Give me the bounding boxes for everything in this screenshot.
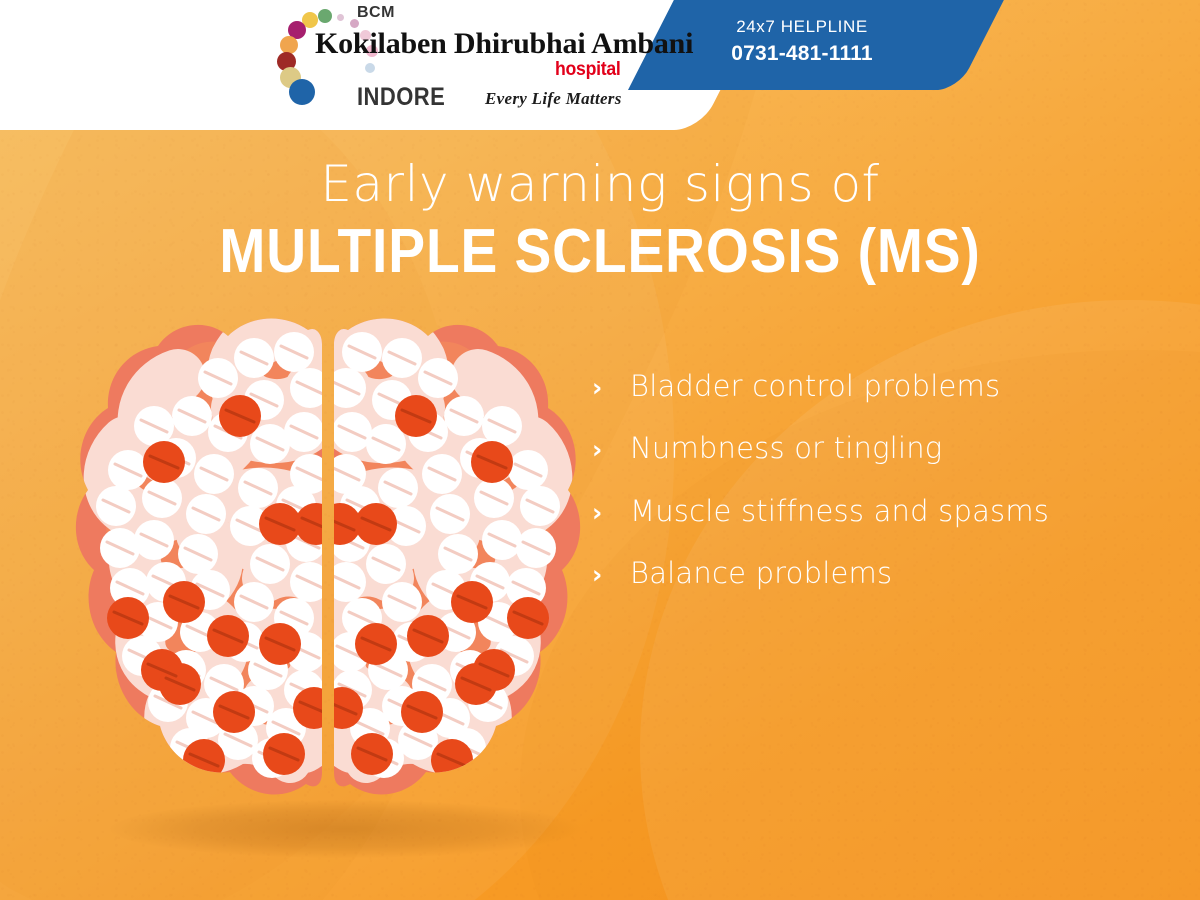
list-item: › Numbness or tingling [592,430,1152,466]
logo-dot [337,14,344,21]
chevron-right-icon: › [592,375,630,400]
title-block: Early warning signs of MULTIPLE SCLEROSI… [0,158,1200,286]
symptom-list: › Bladder control problems › Numbness or… [592,368,1152,617]
logo-dot [318,9,332,23]
list-item: › Balance problems [592,555,1152,591]
logo-dot [289,79,315,105]
helpline-label: 24x7 HELPLINE [652,16,952,39]
logo-brand-name: Kokilaben Dhirubhai Ambani [315,27,693,61]
logo-dot [365,63,375,73]
chevron-right-icon: › [592,562,630,587]
logo-tagline: Every Life Matters [485,89,622,109]
list-item-label: Muscle stiffness and spasms [630,493,1049,529]
logo-brand-suffix: hospital [555,59,621,81]
list-item-label: Bladder control problems [630,368,1000,404]
page-title-line2: MULTIPLE SCLEROSIS (MS) [66,217,1134,286]
chevron-right-icon: › [592,437,630,462]
brain-illustration [58,292,598,822]
page-title-line1: Early warning signs of [0,158,1200,211]
list-item-label: Balance problems [630,555,892,591]
list-item: › Bladder control problems [592,368,1152,404]
infographic-canvas: 24x7 HELPLINE 0731-481-1111 BCM Kokilabe… [0,0,1200,900]
brain-svg [58,292,598,822]
list-item-label: Numbness or tingling [630,430,942,466]
helpline-banner-content: 24x7 HELPLINE 0731-481-1111 [652,0,952,90]
helpline-number[interactable]: 0731-481-1111 [652,40,952,68]
logo-bcm-text: BCM [357,4,395,22]
logo-dot [280,36,298,54]
hospital-logo: BCM Kokilaben Dhirubhai Ambani hospital … [272,2,652,120]
chevron-right-icon: › [592,500,630,525]
list-item: › Muscle stiffness and spasms [592,493,1152,529]
logo-city: INDORE [357,83,445,112]
